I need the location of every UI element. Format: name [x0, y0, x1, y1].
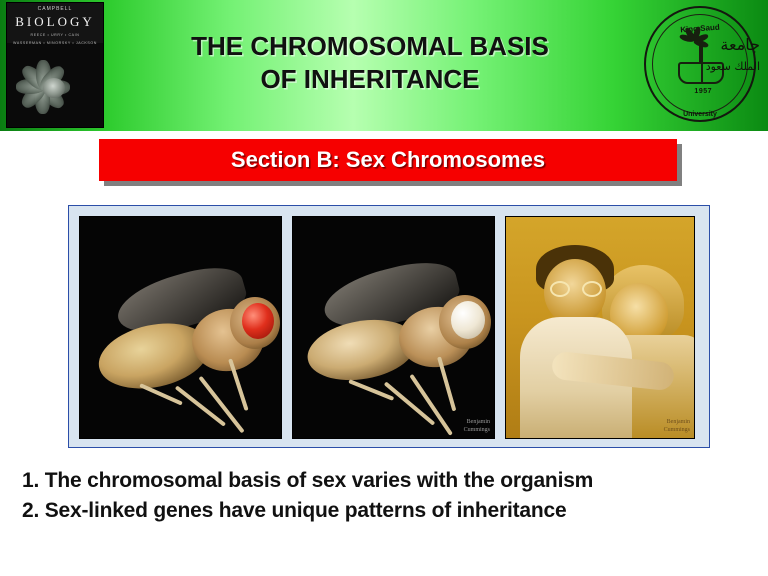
section-bar-label: Section B: Sex Chromosomes: [231, 147, 545, 173]
succulent-plant-icon: [16, 51, 94, 123]
book-cover-text-block: CAMPBELL BIOLOGY REECE • URRY • CAIN WAS…: [7, 3, 103, 43]
white-eye-icon: [451, 301, 485, 339]
book-publisher-label: CAMPBELL: [7, 6, 103, 12]
book-authors-label: REECE • URRY • CAIN: [7, 33, 103, 38]
photo-fruit-fly-white-eye: Benjamin Cummings: [292, 216, 495, 439]
photo-children: Benjamin Cummings: [505, 216, 695, 439]
red-eye-icon: [242, 303, 274, 339]
book-title-label: BIOLOGY: [7, 14, 103, 30]
seal-arabic-line-1: جامعة: [720, 36, 760, 54]
eyeglasses-icon: [550, 281, 602, 297]
page-title-line-2: OF INHERITANCE: [110, 63, 630, 96]
seal-english-bottom-label: University: [650, 111, 750, 118]
bullet-item-2: 2. Sex-linked genes have unique patterns…: [22, 496, 752, 526]
book-cover-thumbnail: CAMPBELL BIOLOGY REECE • URRY • CAIN WAS…: [6, 2, 104, 128]
photo-credit: Benjamin Cummings: [664, 419, 690, 434]
page-title-line-1: THE CHROMOSOMAL BASIS: [110, 30, 630, 63]
seal-arabic-line-2: الملك سعود: [706, 60, 760, 73]
image-panel: Benjamin Cummings Benjamin Cummings: [68, 205, 710, 448]
palm-tree-icon: [687, 30, 715, 64]
section-bar: Section B: Sex Chromosomes: [99, 139, 677, 181]
bullet-item-1: 1. The chromosomal basis of sex varies w…: [22, 466, 752, 496]
header-band: CAMPBELL BIOLOGY REECE • URRY • CAIN WAS…: [0, 0, 768, 131]
page-title: THE CHROMOSOMAL BASIS OF INHERITANCE: [110, 30, 630, 96]
photo-credit: Benjamin Cummings: [464, 419, 490, 434]
photo-row: Benjamin Cummings Benjamin Cummings: [79, 216, 695, 439]
photo-fruit-fly-red-eye: [79, 216, 282, 439]
book-authors-secondary-label: WASSERMAN • MINORSKY • JACKSON: [7, 41, 103, 46]
seal-year-label: 1957: [694, 88, 712, 95]
bullet-list: 1. The chromosomal basis of sex varies w…: [22, 466, 752, 527]
university-seal: King Saud 1957 University جامعة الملك سع…: [640, 4, 762, 126]
